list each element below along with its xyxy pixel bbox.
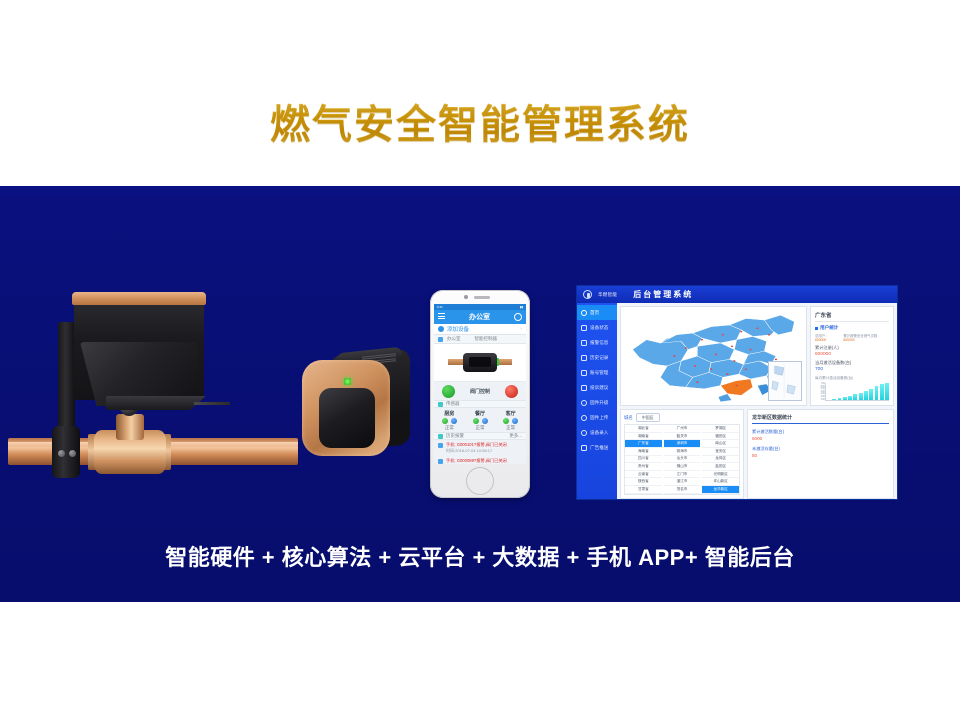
actuator-copper-trim	[72, 292, 206, 305]
chart-plot-area	[825, 383, 889, 401]
device-icon	[581, 325, 587, 331]
subbar-device: 智能控制器	[475, 336, 498, 342]
alerts-section-header: 历史报警 更多...	[434, 432, 526, 440]
table-row[interactable]: 罗湖区	[702, 425, 739, 433]
room-status: 正常	[465, 425, 496, 431]
actuator-base-plate	[106, 396, 206, 410]
chart-caption: 每月累计激活设备数(台)	[815, 376, 889, 381]
sidebar-item-label: 广告推送	[590, 445, 608, 451]
led-blue-icon	[451, 418, 457, 424]
status-icons: ▮▮	[520, 305, 523, 309]
entry-icon	[581, 430, 587, 436]
province-name: 广东省	[815, 311, 889, 322]
map-inset-south-sea	[768, 361, 802, 401]
product-gas-detector	[300, 348, 420, 468]
led-blue-icon	[512, 418, 518, 424]
table-row[interactable]: 韶关市	[664, 433, 701, 441]
slide-root: 燃气安全智能管理系统	[0, 0, 960, 720]
dashboard-title: 后台管理系统	[633, 289, 693, 300]
total-users-stat: 总用户：600000	[815, 333, 838, 342]
list-item[interactable]: 手机: G000089?报警,阀门已关闭	[434, 456, 526, 464]
alerts-label: 历史报警	[446, 433, 464, 439]
dashboard-header: 华燃智能 后台管理系统	[577, 286, 897, 303]
room-status: 正常	[495, 425, 526, 431]
detector-screen	[319, 388, 375, 448]
district-stat-panel: 龙华新区数据统计 累计激活数量(台) 5000 未激活存量(台) 50	[747, 409, 894, 498]
table-row[interactable]: 珠海市	[664, 448, 701, 456]
chart-y-axis: 700600500400300200100	[815, 383, 825, 401]
district-column: 罗湖区福田区南山区宝安区龙岗区盐田区光明新区坪山新区龙华新区	[702, 425, 739, 493]
table-row[interactable]: 贵州省	[625, 463, 662, 471]
dashboard-sidebar: 首页 设备状态 报警信息 历史记录	[577, 303, 617, 500]
sidebar-item-home[interactable]: 首页	[577, 305, 617, 320]
stat-section-header: 用户统计	[815, 325, 889, 331]
sidebar-item-label: 固件上传	[590, 415, 608, 421]
sidebar-item-ad-push[interactable]: 广告推送	[577, 440, 617, 455]
register-value: 600000	[815, 352, 889, 357]
region-columns: 湖北省湖南省广东省海南省四川省贵州省云南省陕西省甘肃省 广州市韶关市深圳市珠海市…	[624, 424, 740, 494]
table-row[interactable]: 甘肃省	[625, 486, 662, 494]
sensor-icon	[438, 402, 443, 407]
table-row[interactable]: 龙岗区	[702, 456, 739, 464]
stat-inline-row: 总用户：600000 累计报警安全燃气次数：600000	[815, 333, 889, 342]
sidebar-item-label: 投诉建议	[590, 385, 608, 391]
sensor-section-label: 传感器	[446, 401, 460, 407]
dashboard-body: 首页 设备状态 报警信息 历史记录	[577, 303, 897, 500]
sidebar-item-label: 设备状态	[590, 325, 608, 331]
led-green-icon	[442, 418, 448, 424]
china-map[interactable]	[620, 306, 807, 406]
table-row[interactable]: 深圳市	[664, 440, 701, 448]
sidebar-item-label: 账号管理	[590, 370, 608, 376]
district-stat-title: 龙华新区数据统计	[752, 414, 889, 424]
list-item[interactable]: 厨房 正常	[434, 410, 465, 431]
sidebar-item-device-status[interactable]: 设备状态	[577, 320, 617, 335]
table-row[interactable]: 龙华新区	[702, 486, 739, 494]
account-icon	[581, 370, 587, 376]
status-time: 9:41	[437, 305, 443, 309]
room-leds	[465, 418, 496, 424]
sidebar-item-firmware-upload[interactable]: 固件上传	[577, 410, 617, 425]
chart-bar	[875, 386, 879, 400]
alerts-list: 手机: G000101?报警,阀门已关闭 时间:2018-07-04 10:56…	[434, 440, 526, 464]
sidebar-item-label: 首页	[590, 310, 599, 316]
device-pipe-left	[448, 359, 464, 365]
chart-bar	[853, 394, 857, 400]
add-device-label: 添加设备	[447, 325, 469, 333]
dashboard-content: 广东省 用户统计 总用户：600000 累计报警安全燃气次数：600000 累计…	[617, 303, 897, 500]
history-icon	[581, 355, 587, 361]
table-row[interactable]: 南山区	[702, 440, 739, 448]
list-item[interactable]: 客厅 正常	[495, 410, 526, 431]
clamp-bolt-icon	[58, 450, 65, 457]
sidebar-item-label: 历史记录	[590, 355, 608, 361]
brand-name: 华燃智能	[598, 292, 617, 298]
clamp-bolt-icon	[69, 450, 76, 457]
table-row[interactable]: 佛山市	[664, 463, 701, 471]
status-led-icon	[344, 378, 351, 385]
table-row[interactable]: 湖南省	[625, 433, 662, 441]
sidebar-item-feedback[interactable]: 投诉建议	[577, 380, 617, 395]
sensor-room-list: 厨房 正常 餐厅 正常	[434, 408, 526, 432]
list-item[interactable]: 餐厅 正常	[465, 410, 496, 431]
region-filter-row: 城名 中国区	[624, 413, 740, 422]
chart-bar	[848, 396, 852, 400]
sidebar-item-firmware-upgrade[interactable]: 固件升级	[577, 395, 617, 410]
table-row[interactable]: 福田区	[702, 433, 739, 441]
chevron-right-icon: ›	[520, 326, 522, 332]
table-row[interactable]: 宝安区	[702, 448, 739, 456]
alarm-count-stat: 累计报警安全燃气次数：600000	[843, 333, 889, 342]
filter-label: 城名	[624, 415, 633, 421]
chart-bar	[838, 398, 842, 400]
table-row[interactable]: 江门市	[664, 471, 701, 479]
gear-icon[interactable]	[514, 313, 522, 321]
led-green-icon	[503, 418, 509, 424]
stat-section-title: 用户统计	[820, 325, 838, 331]
device-illustration	[434, 344, 526, 382]
plus-icon	[438, 326, 444, 332]
room-status: 正常	[434, 425, 465, 431]
room-name: 客厅	[495, 410, 526, 417]
active-devices-label: 当月激活设备数(台)	[815, 360, 889, 366]
table-row[interactable]: 光明新区	[702, 471, 739, 479]
ad-icon	[581, 445, 587, 451]
sensor-section-header: 传感器	[434, 400, 526, 408]
activation-bar-chart: 700600500400300200100	[815, 383, 889, 401]
table-row[interactable]: 广东省	[625, 440, 662, 448]
activated-label: 累计激活数量(台)	[752, 429, 889, 435]
table-row[interactable]: 湖北省	[625, 425, 662, 433]
led-green-icon	[473, 418, 479, 424]
alerts-more-link[interactable]: 更多...	[509, 433, 522, 439]
region-table: 城名 中国区 湖北省湖南省广东省海南省四川省贵州省云南省陕西省甘肃省 广州市韶关…	[620, 409, 744, 498]
close-valve-button[interactable]	[505, 385, 518, 398]
phone-speaker-icon	[474, 296, 490, 299]
detector-copper-frame	[302, 360, 390, 456]
alert-item-icon	[438, 443, 443, 448]
room-name: 餐厅	[465, 410, 496, 417]
upload-icon	[581, 415, 587, 421]
room-name: 厨房	[434, 410, 465, 417]
activated-value: 5000	[752, 436, 889, 441]
page-title: 燃气安全智能管理系统	[0, 92, 960, 150]
alert-text: 手机: G000101?报警,阀门已关闭	[446, 442, 507, 448]
province-stat-panel: 广东省 用户统计 总用户：600000 累计报警安全燃气次数：600000 累计…	[810, 306, 894, 406]
table-row[interactable]: 盐田区	[702, 463, 739, 471]
sidebar-item-alarm[interactable]: 报警信息	[577, 335, 617, 350]
chart-bar	[843, 397, 847, 400]
product-dashboard: 华燃智能 后台管理系统 首页 设备状态 报警信息	[576, 285, 898, 500]
table-row[interactable]: 湛江市	[664, 478, 701, 486]
device-controller-body	[463, 353, 497, 372]
inactive-label: 未激活存量(台)	[752, 446, 889, 452]
alert-text: 手机: G000089?报警,阀门已关闭	[446, 458, 507, 464]
chart-bar	[885, 383, 889, 400]
register-label: 累计注册(人)	[815, 345, 889, 351]
valve-control-row: 阀门控制	[434, 382, 526, 400]
list-item[interactable]: 手机: G000101?报警,阀门已关闭 时间:2018-07-04 10:56…	[434, 440, 526, 456]
phone-camera-icon	[464, 295, 468, 299]
menu-icon[interactable]	[438, 313, 445, 321]
dashboard-lower-row: 城名 中国区 湖北省湖南省广东省海南省四川省贵州省云南省陕西省甘肃省 广州市韶关…	[620, 409, 894, 498]
map-inset-svg	[769, 362, 801, 400]
hero-band: 9:41 ▮▮ 办公室 添加设备 › 办公室 智能控制器	[0, 186, 960, 602]
table-row[interactable]: 海南省	[625, 448, 662, 456]
add-device-row[interactable]: 添加设备 ›	[434, 324, 526, 335]
active-devices-value: 700	[815, 367, 889, 372]
home-icon	[581, 310, 587, 316]
shield-logo-icon	[583, 290, 592, 299]
valve-control-label: 阀门控制	[470, 388, 490, 395]
inactive-value: 50	[752, 453, 889, 458]
table-row[interactable]: 茂名市	[664, 486, 701, 494]
alert-icon	[438, 434, 443, 439]
sidebar-item-label: 报警信息	[590, 340, 608, 346]
sidebar-item-label: 固件升级	[590, 400, 608, 406]
location-icon	[438, 337, 443, 342]
feedback-icon	[581, 385, 587, 391]
actuator-rod	[194, 402, 230, 405]
room-leds	[495, 418, 526, 424]
table-row[interactable]: 广州市	[664, 425, 701, 433]
city-column: 广州市韶关市深圳市珠海市汕头市佛山市江门市湛江市茂名市	[664, 425, 701, 493]
chart-y-tick: 100	[815, 399, 825, 402]
subbar-location: 办公室	[447, 336, 461, 342]
table-row[interactable]: 四川省	[625, 456, 662, 464]
chart-bar	[880, 384, 884, 400]
bullet-icon	[815, 327, 818, 330]
table-row[interactable]: 云南省	[625, 471, 662, 479]
led-blue-icon	[482, 418, 488, 424]
room-leds	[434, 418, 465, 424]
home-button[interactable]	[466, 467, 494, 495]
table-row[interactable]: 坪山新区	[702, 478, 739, 486]
alert-item-icon	[438, 459, 443, 464]
app-title: 办公室	[469, 312, 490, 322]
alarm-icon	[581, 340, 587, 346]
chart-bar	[869, 389, 873, 400]
chart-bar	[832, 399, 836, 400]
valve-neck	[116, 414, 144, 440]
sidebar-item-account[interactable]: 账号管理	[577, 365, 617, 380]
upgrade-icon	[581, 400, 587, 406]
sidebar-item-label: 设备录入	[590, 430, 608, 436]
map-highlight-guangdong	[720, 379, 752, 395]
product-valve-actuator	[8, 286, 298, 506]
filter-value[interactable]: 中国区	[636, 413, 660, 422]
open-valve-button[interactable]	[442, 385, 455, 398]
device-subbar: 办公室 智能控制器	[434, 335, 526, 344]
sidebar-item-history[interactable]: 历史记录	[577, 350, 617, 365]
device-controller-screen	[469, 357, 491, 367]
phone-screen: 9:41 ▮▮ 办公室 添加设备 › 办公室 智能控制器	[434, 304, 526, 464]
province-column: 湖北省湖南省广东省海南省四川省贵州省云南省陕西省甘肃省	[625, 425, 662, 493]
app-nav-bar: 办公室	[434, 310, 526, 324]
dashboard-upper-row: 广东省 用户统计 总用户：600000 累计报警安全燃气次数：600000 累计…	[620, 306, 894, 406]
sidebar-item-device-entry[interactable]: 设备录入	[577, 425, 617, 440]
table-row[interactable]: 汕头市	[664, 456, 701, 464]
chart-bar	[864, 391, 868, 400]
product-smartphone: 9:41 ▮▮ 办公室 添加设备 › 办公室 智能控制器	[430, 290, 530, 498]
chart-bar	[859, 393, 863, 401]
alert-time: 时间:2018-07-04 10:56:17	[446, 448, 507, 454]
tagline: 智能硬件 + 核心算法 + 云平台 + 大数据 + 手机 APP+ 智能后台	[0, 540, 960, 572]
table-row[interactable]: 陕西省	[625, 478, 662, 486]
